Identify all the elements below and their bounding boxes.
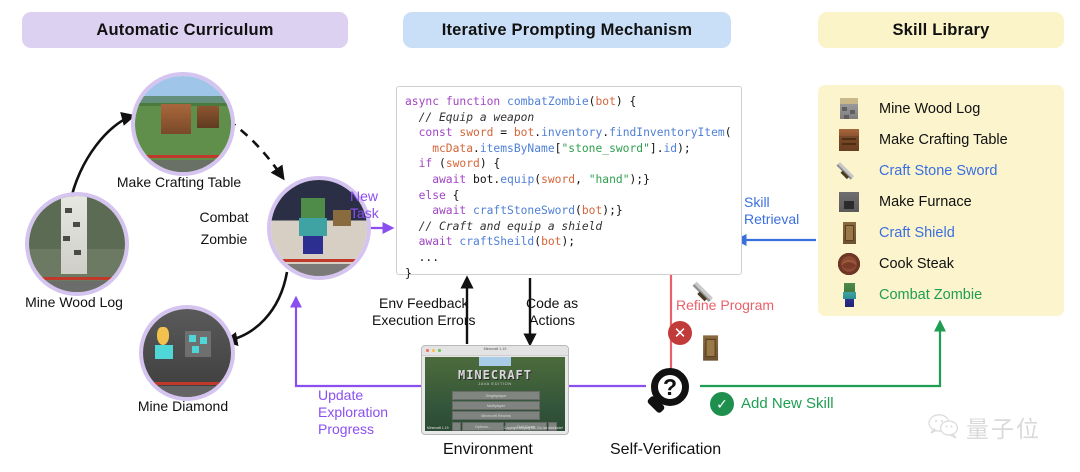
close-icon[interactable] <box>426 349 429 352</box>
minecraft-crafting-table-icon <box>836 127 862 153</box>
node-mine-wood-log[interactable] <box>25 192 129 296</box>
skill-item-make-furnace[interactable]: Make Furnace <box>836 187 972 217</box>
skill-label: Make Furnace <box>879 194 972 210</box>
label-add-new-skill: Add New Skill <box>741 395 834 412</box>
minecraft-copyright: Copyright Mojang AB. Do not distribute! <box>504 426 563 430</box>
code-line: async function combatZombie(bot) { <box>405 94 732 110</box>
singleplayer-button[interactable]: Singleplayer <box>452 391 540 400</box>
skill-label: Combat Zombie <box>879 287 982 303</box>
minecraft-log-icon <box>836 96 862 122</box>
label-code-as-actions-line2: Actions <box>526 312 578 329</box>
arrow-log-to-table <box>70 116 133 204</box>
code-line: ... <box>405 250 732 266</box>
language-button[interactable] <box>452 422 461 431</box>
skill-item-combat-zombie[interactable]: Combat Zombie <box>836 280 982 310</box>
minecraft-window[interactable]: Minecraft 1.19 MINECRAFT JAVA EDITION Si… <box>421 345 569 435</box>
window-title: Minecraft 1.19 <box>484 347 507 351</box>
minecraft-logo: MINECRAFT <box>458 368 532 382</box>
skill-item-craft-stone-sword[interactable]: Craft Stone Sword <box>836 156 997 186</box>
header-iterative-prompting-mechanism: Iterative Prompting Mechanism <box>403 12 731 48</box>
label-skill-retrieval: Skill Retrieval <box>744 194 799 228</box>
multiplayer-button[interactable]: Multiplayer <box>452 401 540 410</box>
minimize-icon[interactable] <box>432 349 435 352</box>
minecraft-version: Minecraft 1.19 <box>427 426 449 430</box>
skill-item-make-crafting-table[interactable]: Make Crafting Table <box>836 125 1008 155</box>
label-new-task-line1: New <box>350 188 379 205</box>
minecraft-steak-icon <box>836 251 862 277</box>
sky-patch <box>479 357 511 366</box>
label-make-crafting-table: Make Crafting Table <box>100 174 258 190</box>
status-badge-fail: ✕ <box>668 321 692 345</box>
label-mine-diamond: Mine Diamond <box>128 398 238 414</box>
arrow-table-to-zombie <box>228 120 283 178</box>
make-crafting-table-thumbnail <box>135 76 231 172</box>
code-block: async function combatZombie(bot) { // Eq… <box>405 94 732 281</box>
label-env-feedback: Env Feedback Execution Errors <box>372 295 475 329</box>
minecraft-sword-icon <box>836 158 862 184</box>
label-refine-program: Refine Program <box>676 297 774 314</box>
question-mark-icon: ? <box>651 370 689 404</box>
minecraft-main-menu-screenshot: MINECRAFT JAVA EDITION Singleplayer Mult… <box>425 357 565 431</box>
watermark: 量子位 <box>928 410 1041 444</box>
label-update-exploration-progress: Update Exploration Progress <box>318 387 388 438</box>
label-combat-zombie-line1: Combat Zombie <box>186 206 262 250</box>
wechat-icon <box>928 414 960 440</box>
minecraft-shield-icon <box>836 220 862 246</box>
shield-icon <box>695 333 725 363</box>
code-line: else { <box>405 188 732 204</box>
code-line: // Equip a weapon <box>405 110 732 126</box>
mine-wood-log-thumbnail <box>29 196 125 292</box>
skill-label: Mine Wood Log <box>879 101 980 117</box>
label-code-as-actions: Code as Actions <box>526 295 578 329</box>
caption-environment: Environment <box>443 441 533 459</box>
label-env-feedback-line1: Env Feedback <box>372 295 475 312</box>
mine-diamond-thumbnail <box>143 309 231 397</box>
maximize-icon[interactable] <box>438 349 441 352</box>
skill-item-mine-wood-log[interactable]: Mine Wood Log <box>836 94 980 124</box>
code-line: // Craft and equip a shield <box>405 219 732 235</box>
code-panel: async function combatZombie(bot) { // Eq… <box>396 86 742 275</box>
code-line: const sword = bot.inventory.findInventor… <box>405 125 732 141</box>
status-badge-pass: ✓ <box>710 392 734 416</box>
label-env-feedback-line2: Execution Errors <box>372 312 475 329</box>
code-line: await bot.equip(sword, "hand");} <box>405 172 732 188</box>
self-verification-magnifier-icon: ? <box>643 368 697 424</box>
options-button[interactable]: Options... <box>462 422 504 431</box>
code-line: await craftSheild(bot); <box>405 234 732 250</box>
label-mine-wood-log: Mine Wood Log <box>18 294 130 310</box>
label-new-task-line2: Task <box>350 205 379 222</box>
window-title-bar: Minecraft 1.19 <box>422 346 568 356</box>
skill-label: Cook Steak <box>879 256 954 272</box>
node-make-crafting-table[interactable] <box>131 72 235 176</box>
minecraft-subtitle: JAVA EDITION <box>478 381 512 386</box>
skill-label: Make Crafting Table <box>879 132 1008 148</box>
arrow-add-new-skill <box>700 322 940 386</box>
node-mine-diamond[interactable] <box>139 305 235 401</box>
watermark-text: 量子位 <box>966 410 1041 444</box>
skill-label: Craft Shield <box>879 225 955 241</box>
skill-label: Craft Stone Sword <box>879 163 997 179</box>
label-code-as-actions-line1: Code as <box>526 295 578 312</box>
minecraft-realms-button[interactable]: Minecraft Realms <box>452 411 540 420</box>
label-update-line1: Update <box>318 387 388 404</box>
header-automatic-curriculum: Automatic Curriculum <box>22 12 348 48</box>
minecraft-furnace-icon <box>836 189 862 215</box>
header-skill-library: Skill Library <box>818 12 1064 48</box>
label-skill-retrieval-line2: Retrieval <box>744 211 799 228</box>
arrow-zombie-to-diamond <box>226 272 287 341</box>
label-combat-zombie: Combat Zombie <box>186 206 262 250</box>
caption-self-verification: Self-Verification <box>610 441 721 459</box>
code-line: await craftStoneSword(bot);} <box>405 203 732 219</box>
skill-item-cook-steak[interactable]: Cook Steak <box>836 249 954 279</box>
code-line: if (sword) { <box>405 156 732 172</box>
label-skill-retrieval-line1: Skill <box>744 194 799 211</box>
label-update-line3: Progress <box>318 421 388 438</box>
skill-item-craft-shield[interactable]: Craft Shield <box>836 218 955 248</box>
label-update-line2: Exploration <box>318 404 388 421</box>
code-line: } <box>405 266 732 282</box>
minecraft-zombie-icon <box>836 282 862 308</box>
code-line: mcData.itemsByName["stone_sword"].id); <box>405 141 732 157</box>
label-new-task: New Task <box>350 188 379 222</box>
skill-library-panel: Mine Wood Log Make Crafting Table Craft … <box>818 85 1064 316</box>
